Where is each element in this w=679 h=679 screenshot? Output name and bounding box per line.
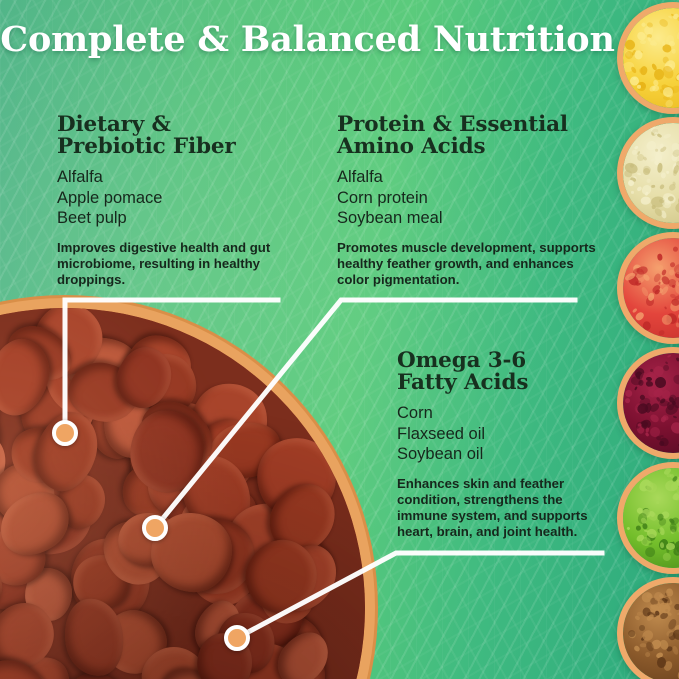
texture-speck	[645, 403, 653, 414]
texture-speck	[663, 86, 673, 97]
texture-speck	[658, 329, 666, 336]
texture-speck	[634, 145, 639, 150]
chip-alfalfa	[617, 462, 679, 574]
heading-line-2: Prebiotic Fiber	[57, 134, 236, 159]
corn-meal-texture	[623, 8, 679, 108]
ingredient-item: Alfalfa	[57, 167, 307, 188]
chip-apple	[617, 232, 679, 344]
callout-omega-dot	[224, 625, 250, 651]
texture-speck	[672, 645, 679, 655]
texture-speck	[627, 180, 635, 188]
texture-speck	[647, 178, 652, 183]
texture-speck	[648, 542, 652, 545]
texture-speck	[666, 588, 674, 597]
texture-speck	[634, 386, 638, 390]
texture-speck	[652, 42, 657, 47]
texture-speck	[624, 397, 631, 404]
texture-speck	[660, 542, 665, 548]
ingredient-list-fiber: Alfalfa Apple pomace Beet pulp	[57, 167, 307, 229]
ingredient-item: Beet pulp	[57, 208, 307, 229]
texture-speck	[668, 40, 675, 46]
texture-speck	[656, 656, 666, 668]
ingredient-item: Soybean meal	[337, 208, 599, 229]
texture-speck	[632, 150, 637, 155]
ingredient-list-protein: Alfalfa Corn protein Soybean meal	[337, 167, 599, 229]
texture-speck	[656, 253, 662, 260]
heading-line-2: Amino Acids	[337, 134, 485, 159]
chip-flaxseed	[617, 577, 679, 679]
texture-speck	[656, 501, 660, 504]
texture-speck	[659, 526, 666, 535]
ingredient-item: Flaxseed oil	[397, 424, 612, 445]
flaxseed-texture	[623, 583, 679, 679]
texture-speck	[666, 170, 669, 174]
texture-speck	[643, 320, 651, 330]
bowl-pellets	[0, 308, 365, 679]
texture-speck	[657, 162, 663, 172]
texture-speck	[673, 415, 677, 418]
texture-speck	[667, 15, 672, 19]
texture-speck	[654, 366, 664, 376]
block-heading-fiber: Dietary & Prebiotic Fiber	[57, 114, 307, 158]
nutrition-block-protein: Protein & Essential Amino Acids Alfalfa …	[337, 114, 599, 288]
texture-speck	[627, 526, 631, 530]
texture-speck	[631, 307, 637, 313]
texture-speck	[638, 380, 644, 387]
nutrition-block-omega: Omega 3-6 Fatty Acids Corn Flaxseed oil …	[397, 350, 612, 540]
texture-speck	[662, 551, 673, 562]
texture-speck	[671, 49, 676, 54]
texture-speck	[666, 355, 671, 359]
texture-speck	[645, 427, 649, 432]
block-description-omega: Enhances skin and feather condition, str…	[397, 476, 612, 541]
texture-speck	[673, 246, 678, 252]
texture-speck	[644, 651, 651, 658]
texture-speck	[655, 153, 663, 162]
texture-speck	[671, 373, 679, 387]
chip-corn-meal	[617, 2, 679, 114]
texture-speck	[636, 525, 642, 531]
block-heading-omega: Omega 3-6 Fatty Acids	[397, 350, 612, 394]
texture-speck	[655, 149, 658, 152]
texture-speck	[660, 172, 666, 179]
ingredient-item: Alfalfa	[337, 167, 599, 188]
chip-beet-pulp	[617, 347, 679, 459]
beet-pulp-texture	[623, 353, 679, 453]
infographic-canvas: Complete & Balanced Nutrition Dietary & …	[0, 0, 679, 679]
texture-speck	[664, 306, 667, 310]
texture-speck	[651, 63, 658, 71]
texture-speck	[624, 390, 633, 398]
texture-speck	[676, 31, 679, 40]
texture-speck	[646, 482, 658, 494]
food-bowl-image	[0, 308, 365, 679]
nutrition-block-fiber: Dietary & Prebiotic Fiber Alfalfa Apple …	[57, 114, 307, 288]
texture-speck	[637, 172, 642, 175]
ingredient-item: Soybean oil	[397, 444, 612, 465]
texture-speck	[663, 132, 672, 139]
texture-speck	[643, 545, 657, 559]
alfalfa-texture	[623, 468, 679, 568]
block-heading-protein: Protein & Essential Amino Acids	[337, 114, 599, 158]
texture-speck	[656, 133, 661, 138]
page-title: Complete & Balanced Nutrition	[0, 19, 615, 60]
texture-speck	[670, 420, 679, 435]
texture-speck	[651, 185, 655, 188]
block-description-fiber: Improves digestive health and gut microb…	[57, 240, 307, 289]
soybean-meal-texture	[623, 123, 679, 223]
block-description-protein: Promotes muscle development, supports he…	[337, 240, 599, 289]
texture-speck	[674, 201, 679, 215]
callout-protein-dot	[142, 515, 168, 541]
ingredient-list-omega: Corn Flaxseed oil Soybean oil	[397, 403, 612, 465]
texture-speck	[658, 18, 669, 29]
callout-fiber-dot	[52, 420, 78, 446]
texture-speck	[631, 191, 634, 194]
ingredient-item: Corn protein	[337, 188, 599, 209]
ingredient-item: Apple pomace	[57, 188, 307, 209]
texture-speck	[640, 197, 650, 206]
texture-speck	[674, 603, 679, 611]
texture-speck	[660, 285, 670, 296]
chip-soy-meal	[617, 117, 679, 229]
ingredient-item: Corn	[397, 403, 612, 424]
texture-speck	[633, 311, 645, 322]
texture-speck	[646, 509, 659, 522]
texture-speck	[635, 50, 643, 60]
heading-line-2: Fatty Acids	[397, 370, 528, 395]
texture-speck	[659, 184, 665, 190]
apple-texture	[623, 238, 679, 338]
texture-speck	[660, 434, 664, 437]
